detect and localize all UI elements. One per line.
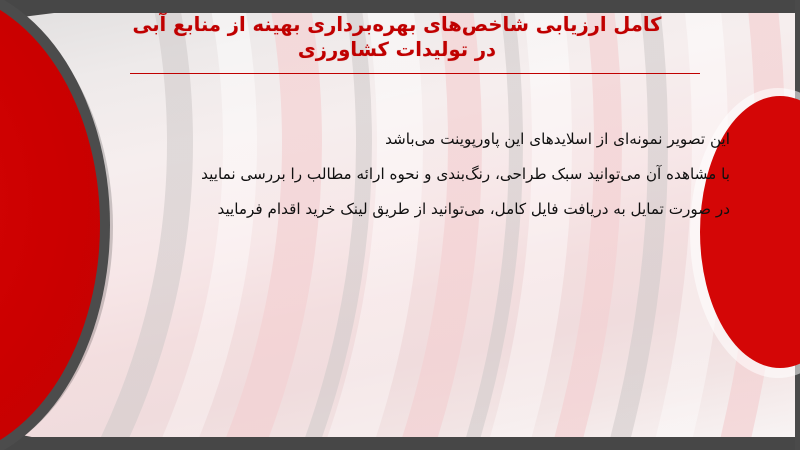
slide-body-line-3: در صورت تمایل به دریافت فایل کامل، می‌تو…: [70, 192, 730, 227]
slide-body-line-2: با مشاهده آن می‌توانید سبک طراحی، رنگ‌بن…: [70, 157, 730, 192]
slide-title-line-1: کامل ارزیابی شاخص‌های بهره‌برداری بهینه …: [92, 12, 702, 37]
slide-body-line-1: این تصویر نمونه‌ای از اسلایدهای این پاور…: [70, 122, 730, 157]
slide-title: کامل ارزیابی شاخص‌های بهره‌برداری بهینه …: [92, 12, 702, 62]
title-underline-rule: [130, 73, 700, 74]
slide-body-text: این تصویر نمونه‌ای از اسلایدهای این پاور…: [70, 122, 730, 227]
presentation-slide: کامل ارزیابی شاخص‌های بهره‌برداری بهینه …: [0, 0, 800, 450]
slide-title-line-2: در تولیدات کشاورزی: [92, 37, 702, 62]
